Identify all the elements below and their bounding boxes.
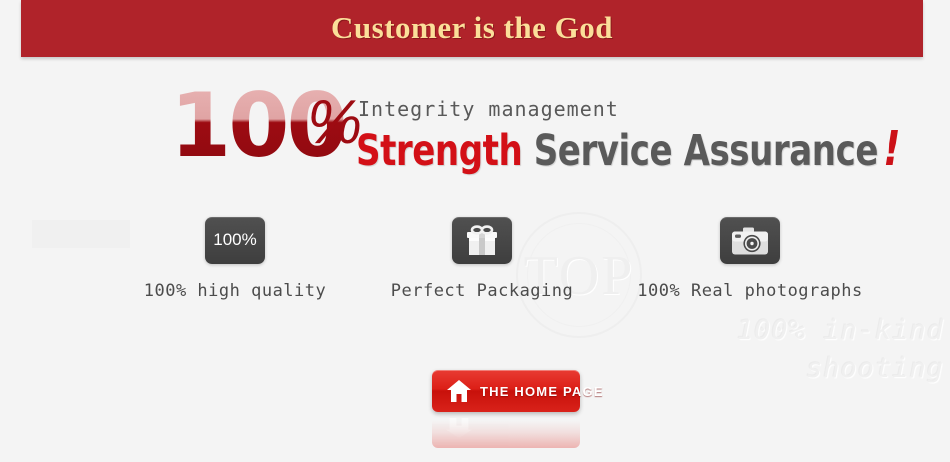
gift-box-icon-glyph	[465, 225, 499, 257]
headline-service-words: Service Assurance	[522, 126, 878, 176]
home-page-button-label: THE HOME PAGE	[480, 384, 604, 399]
home-page-button[interactable]: THE HOME PAGE	[432, 370, 580, 412]
headline-strength-word: Strength	[356, 126, 522, 176]
feature-label-quality: 100% high quality	[135, 281, 335, 301]
camera-icon	[720, 217, 780, 264]
promo-banner-page: Customer is the God TOP 100% in-kind sho…	[0, 0, 950, 462]
headline-exclamation: !	[878, 121, 900, 177]
hundred-percent-icon: 100%	[205, 217, 265, 264]
feature-list: 100% 100% high quality Perfect Packaging	[0, 214, 950, 309]
headline-block: 100 % Integrity management Strength Serv…	[170, 84, 870, 184]
feature-item-photographs: 100% Real photographs	[625, 214, 875, 301]
in-kind-watermark-line1: 100% in-kind	[664, 312, 944, 350]
house-icon	[446, 379, 472, 403]
in-kind-watermark-line2: shooting	[664, 350, 944, 388]
home-button-reflection	[432, 414, 580, 448]
in-kind-watermark: 100% in-kind shooting	[664, 312, 944, 388]
headline-subtitle: Integrity management	[358, 97, 619, 121]
feature-item-packaging: Perfect Packaging	[382, 214, 582, 301]
camera-icon-glyph	[731, 227, 769, 256]
house-icon-reflection	[446, 418, 472, 438]
headline-main: Strength Service Assurance!	[356, 124, 900, 176]
feature-label-packaging: Perfect Packaging	[382, 281, 582, 301]
gift-box-icon	[452, 217, 512, 264]
percent-symbol: %	[307, 92, 362, 154]
feature-item-quality: 100% 100% high quality	[135, 214, 335, 301]
home-button-area: THE HOME PAGE	[432, 370, 580, 460]
feature-label-photographs: 100% Real photographs	[625, 281, 875, 301]
header-banner: Customer is the God	[21, 0, 923, 57]
page-title: Customer is the God	[21, 10, 923, 46]
hundred-percent-icon-label: 100%	[205, 230, 265, 250]
